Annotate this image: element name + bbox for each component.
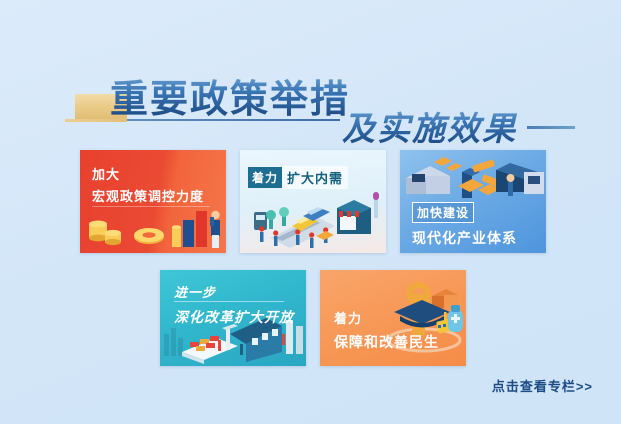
- card-1-text: 加大 宏观政策调控力度: [92, 164, 204, 205]
- card-5-text: 着力 保障和改善民生: [334, 308, 439, 352]
- card-4-text: 进一步 深化改革扩大开放: [174, 282, 294, 327]
- card-3-line-2: 现代化产业体系: [412, 228, 517, 248]
- card-5-tag: 着力: [334, 308, 439, 327]
- page-title-line-1: 重要政策举措: [110, 68, 350, 123]
- coins-bar-chart-icon: [80, 202, 226, 253]
- policy-card-macro-regulation[interactable]: 加大 宏观政策调控力度: [80, 150, 226, 253]
- card-2-tag: 着力: [248, 167, 282, 188]
- city-street-scene-icon: [240, 186, 386, 253]
- card-2-line-2: 扩大内需: [282, 166, 348, 189]
- card-1-line-1: 加大: [92, 164, 204, 183]
- card-1-divider: [92, 206, 210, 207]
- title-right-rule-decoration: [527, 126, 575, 129]
- card-4-line-1: 进一步: [174, 282, 294, 301]
- policy-card-reform-opening[interactable]: 进一步 深化改革扩大开放: [160, 270, 306, 366]
- page-title-line-2: 及实施效果: [342, 102, 517, 150]
- page-title-block: 重要政策举措 及实施效果: [0, 30, 621, 130]
- card-2-text: 着力 扩大内需: [248, 166, 348, 189]
- policy-card-peoples-livelihood[interactable]: 着力 保障和改善民生: [320, 270, 466, 366]
- policy-card-expand-demand[interactable]: 着力 扩大内需: [240, 150, 386, 253]
- card-4-line-2: 深化改革扩大开放: [174, 307, 294, 327]
- card-3-tag: 加快建设: [412, 202, 474, 223]
- card-1-line-2: 宏观政策调控力度: [92, 186, 204, 205]
- card-3-text: 加快建设 现代化产业体系: [412, 202, 517, 248]
- card-5-line-2: 保障和改善民生: [334, 332, 439, 352]
- policy-card-modern-industry[interactable]: 加快建设 现代化产业体系: [400, 150, 546, 253]
- view-column-link[interactable]: 点击查看专栏>>: [492, 376, 593, 395]
